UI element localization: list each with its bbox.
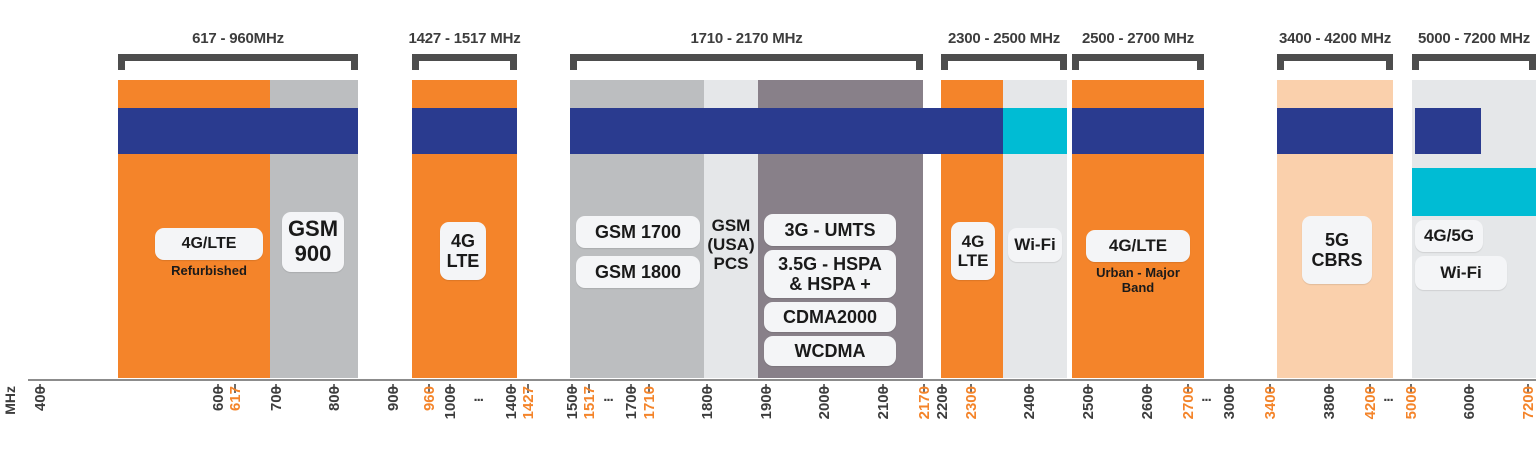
axis-tick-label: 2000 bbox=[816, 386, 833, 419]
axis-tick-label: 600 bbox=[210, 386, 227, 411]
axis-tick-label: 2600 bbox=[1139, 386, 1156, 419]
axis-tick-label: 900 bbox=[385, 386, 402, 411]
bracket-range-label: 5000 - 7200 MHz bbox=[1418, 30, 1530, 47]
label-gsm-usa-pcs: GSM (USA) PCS bbox=[706, 216, 756, 273]
bracket-group: 1427 - 1517 MHz bbox=[412, 30, 517, 76]
pill-gsm-1800: GSM 1800 bbox=[576, 256, 700, 288]
axis-tick-label: 2100 bbox=[875, 386, 892, 419]
axis-tick-label: 6000 bbox=[1461, 386, 1478, 419]
band-blue-5g bbox=[1415, 108, 1481, 154]
band-blue-2500 bbox=[1072, 108, 1204, 154]
bracket-group: 617 - 960MHz bbox=[118, 30, 358, 76]
axis-tick-label: 1517 bbox=[581, 386, 598, 419]
bracket-shape bbox=[412, 54, 517, 70]
pill-4g-lte-urban: 4G/LTE bbox=[1086, 230, 1190, 262]
band-blue-low bbox=[118, 108, 358, 154]
axis-tick-label: 1000 bbox=[442, 386, 459, 419]
axis-tick-label: 4200 bbox=[1362, 386, 1379, 419]
pill-wifi-2400: Wi-Fi bbox=[1008, 228, 1062, 262]
spectrum-allocation-chart: 617 - 960MHz1427 - 1517 MHz1710 - 2170 M… bbox=[0, 0, 1536, 466]
bracket-range-label: 2300 - 2500 MHz bbox=[948, 30, 1060, 47]
band-blue-mid bbox=[570, 108, 1003, 154]
band-cyan-wifi-2400 bbox=[1003, 108, 1067, 154]
pill-gsm-900: GSM 900 bbox=[282, 212, 344, 272]
bracket-range-label: 617 - 960MHz bbox=[192, 30, 284, 47]
bracket-shape bbox=[1072, 54, 1204, 70]
axis-tick-label: 2500 bbox=[1080, 386, 1097, 419]
axis-tick-label: 2200 bbox=[934, 386, 951, 419]
note-refurbished: Refurbished bbox=[155, 264, 263, 279]
axis-break-ellipsis: ... bbox=[473, 388, 483, 405]
bracket-shape bbox=[118, 54, 358, 70]
axis-tick-label: 700 bbox=[268, 386, 285, 411]
axis-tick-label: 3400 bbox=[1262, 386, 1279, 419]
axis-tick-label: 617 bbox=[227, 386, 244, 411]
pill-4g-lte-1427: 4G LTE bbox=[440, 222, 486, 280]
axis-tick-label: 1500 bbox=[564, 386, 581, 419]
axis-tick-label: 2700 bbox=[1180, 386, 1197, 419]
axis-tick-label: 3000 bbox=[1221, 386, 1238, 419]
bracket-group: 5000 - 7200 MHz bbox=[1412, 30, 1536, 76]
axis-tick-label: 2170 bbox=[916, 386, 933, 419]
axis-tick-label: 1900 bbox=[758, 386, 775, 419]
axis-break-ellipsis: ... bbox=[603, 388, 613, 405]
frequency-axis-line bbox=[28, 379, 1536, 381]
axis-tick-label: 1700 bbox=[623, 386, 640, 419]
axis-tick-label: 5000 bbox=[1403, 386, 1420, 419]
axis-tick-label: 1427 bbox=[520, 386, 537, 419]
axis-tick-label: 2300 bbox=[963, 386, 980, 419]
pill-3g-umts: 3G - UMTS bbox=[764, 214, 896, 246]
axis-tick-label: 800 bbox=[326, 386, 343, 411]
pill-4g-lte-refurbished: 4G/LTE bbox=[155, 228, 263, 260]
band-cyan-wifi-6e bbox=[1412, 168, 1536, 216]
band-blue-cbrs bbox=[1277, 108, 1393, 154]
bracket-group: 2300 - 2500 MHz bbox=[941, 30, 1067, 76]
axis-break-ellipsis: ... bbox=[1383, 388, 1393, 405]
bracket-shape bbox=[570, 54, 923, 70]
bracket-range-label: 3400 - 4200 MHz bbox=[1279, 30, 1391, 47]
axis-tick-label: 1800 bbox=[699, 386, 716, 419]
bracket-shape bbox=[1412, 54, 1536, 70]
axis-tick-label: 3800 bbox=[1321, 386, 1338, 419]
pill-4g-5g: 4G/5G bbox=[1415, 220, 1483, 252]
pill-5g-cbrs: 5G CBRS bbox=[1302, 216, 1372, 284]
bracket-range-label: 1710 - 2170 MHz bbox=[690, 30, 802, 47]
axis-tick-label: 960 bbox=[421, 386, 438, 411]
pill-wcdma: WCDMA bbox=[764, 336, 896, 366]
band-blue-1427 bbox=[412, 108, 517, 154]
pill-gsm-1700: GSM 1700 bbox=[576, 216, 700, 248]
axis-break-ellipsis: ... bbox=[1201, 388, 1211, 405]
pill-wifi-5g: Wi-Fi bbox=[1415, 256, 1507, 290]
bracket-group: 1710 - 2170 MHz bbox=[570, 30, 923, 76]
pill-cdma2000: CDMA2000 bbox=[764, 302, 896, 332]
axis-unit-label: MHz bbox=[2, 386, 18, 415]
bracket-shape bbox=[941, 54, 1067, 70]
pill-4g-lte-2300: 4G LTE bbox=[951, 222, 995, 280]
bracket-group: 2500 - 2700 MHz bbox=[1072, 30, 1204, 76]
bracket-shape bbox=[1277, 54, 1393, 70]
bracket-group: 3400 - 4200 MHz bbox=[1277, 30, 1393, 76]
axis-tick-label: 1400 bbox=[503, 386, 520, 419]
axis-tick-label: 7200 bbox=[1520, 386, 1536, 419]
axis-tick-label: 1710 bbox=[641, 386, 658, 419]
axis-tick-label: 2400 bbox=[1021, 386, 1038, 419]
axis-tick-label: 400 bbox=[32, 386, 49, 411]
note-urban-major-band: Urban - Major Band bbox=[1078, 266, 1198, 296]
bracket-range-label: 1427 - 1517 MHz bbox=[408, 30, 520, 47]
bracket-range-label: 2500 - 2700 MHz bbox=[1082, 30, 1194, 47]
pill-35g-hspa: 3.5G - HSPA & HSPA + bbox=[764, 250, 896, 298]
